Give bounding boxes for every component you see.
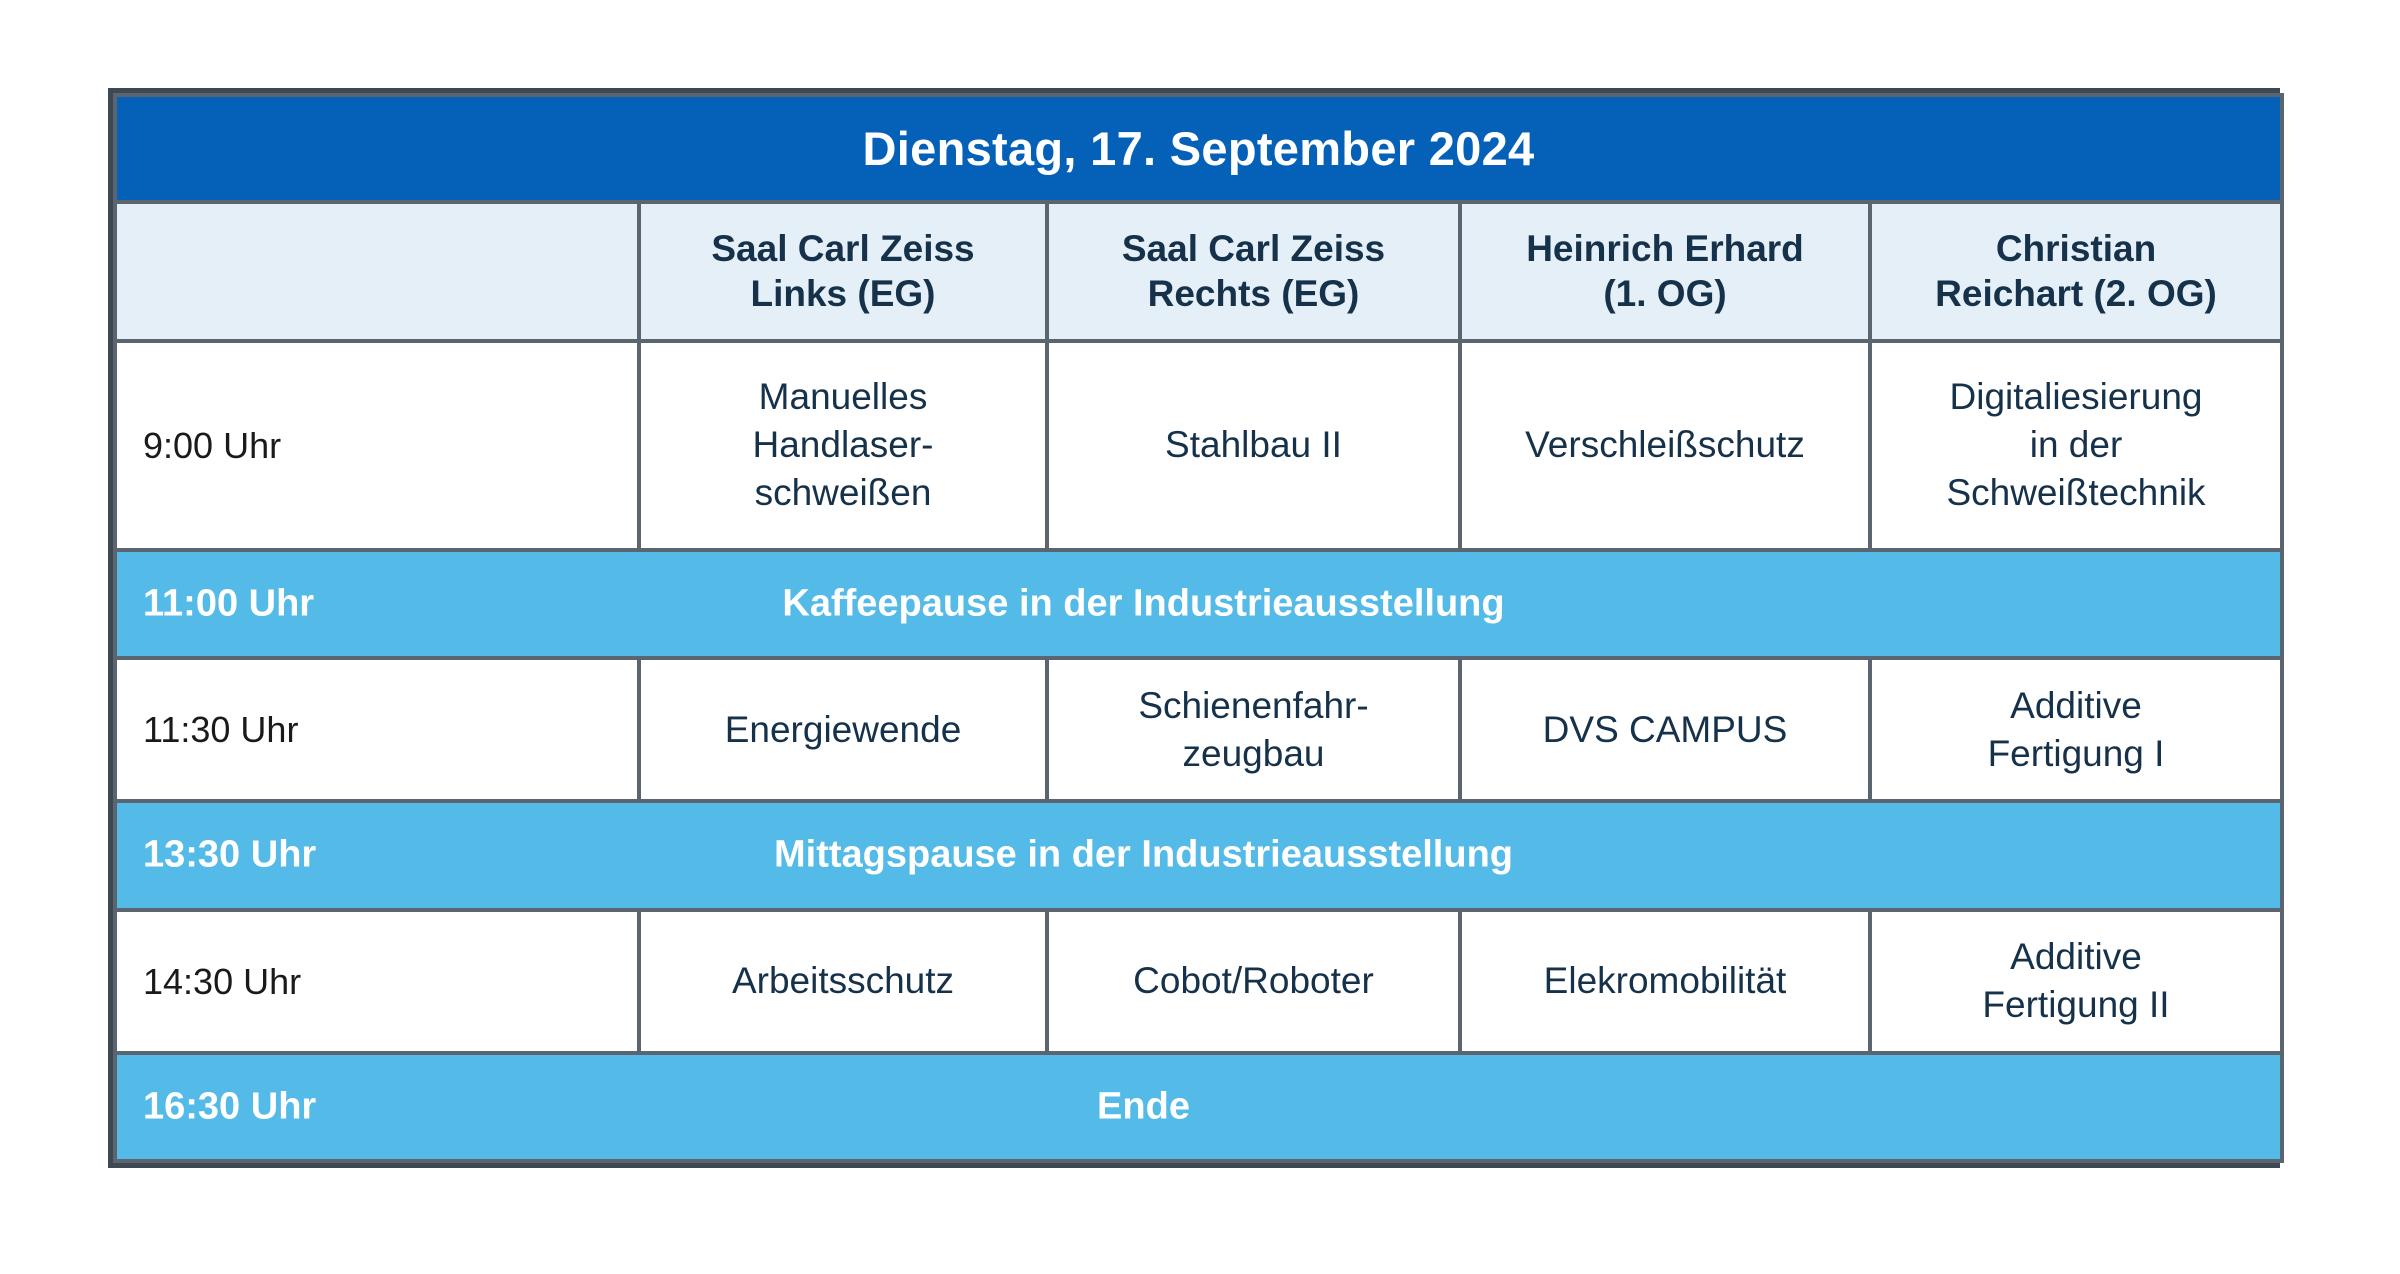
row-2-session-1-line-1: Energiewende	[725, 709, 962, 750]
header-room-1-line-1: Saal Carl Zeiss	[711, 228, 974, 269]
row-0-session-4-line-2: in der	[2030, 424, 2123, 465]
row-0-session-cell-1[interactable]: Manuelles Handlaser- schweißen	[639, 341, 1047, 550]
schedule-title-row: Dienstag, 17. September 2024	[115, 95, 2282, 202]
break-row-end: 16:30 Uhr Ende	[115, 1053, 2282, 1161]
header-room-4-label: Christian Reichart (2. OG)	[1872, 227, 2280, 316]
row-0-session-1-line-2: Handlaser-	[753, 424, 934, 465]
header-room-1-label: Saal Carl Zeiss Links (EG)	[641, 227, 1045, 316]
header-room-4-line-2: Reichart (2. OG)	[1935, 273, 2217, 314]
header-room-3-line-2: (1. OG)	[1603, 273, 1726, 314]
row-0-session-cell-2[interactable]: Stahlbau II	[1047, 341, 1460, 550]
row-2-time: 11:30 Uhr	[117, 707, 637, 752]
break-cell-end: 16:30 Uhr Ende	[115, 1053, 2282, 1161]
column-header-row: Saal Carl Zeiss Links (EG) Saal Carl Zei…	[115, 202, 2282, 341]
break-lunch-label: Mittagspause in der Industrieausstellung	[117, 834, 2280, 877]
break-inner-end: 16:30 Uhr Ende	[117, 1060, 2280, 1153]
row-4-session-3-line-1: Elekromobilität	[1544, 960, 1787, 1001]
row-2-session-3-line-1: DVS CAMPUS	[1543, 709, 1788, 750]
header-room-3-line-1: Heinrich Erhard	[1526, 228, 1804, 269]
row-0-time-cell: 9:00 Uhr	[115, 341, 639, 550]
row-0-session-2-line-1: Stahlbau II	[1165, 424, 1342, 465]
row-0-time: 9:00 Uhr	[117, 423, 637, 468]
row-0-session-cell-3[interactable]: Verschleißschutz	[1460, 341, 1870, 550]
row-2-session-1: Energiewende	[641, 700, 1045, 760]
header-cell-time	[115, 202, 639, 341]
row-2-time-cell: 11:30 Uhr	[115, 658, 639, 801]
header-room-2-label: Saal Carl Zeiss Rechts (EG)	[1049, 227, 1458, 316]
schedule-table: Dienstag, 17. September 2024 Saal Carl Z…	[113, 93, 2284, 1163]
break-inner-lunch: 13:30 Uhr Mittagspause in der Industriea…	[117, 809, 2280, 902]
row-2-session-2-line-1: Schienenfahr-	[1138, 685, 1368, 726]
row-4-session-4: Additive Fertigung II	[1872, 927, 2280, 1035]
row-2-session-2-line-2: zeugbau	[1183, 733, 1325, 774]
row-4-session-4-line-1: Additive	[2010, 936, 2142, 977]
row-0-session-2: Stahlbau II	[1049, 415, 1458, 475]
row-4-session-cell-4[interactable]: Additive Fertigung II	[1870, 910, 2282, 1053]
header-cell-room-4: Christian Reichart (2. OG)	[1870, 202, 2282, 341]
row-2-session-cell-3[interactable]: DVS CAMPUS	[1460, 658, 1870, 801]
row-4-session-cell-2[interactable]: Cobot/Roboter	[1047, 910, 1460, 1053]
row-4-session-cell-3[interactable]: Elekromobilität	[1460, 910, 1870, 1053]
row-0-session-4-line-3: Schweißtechnik	[1946, 472, 2205, 513]
row-2-session-cell-2[interactable]: Schienenfahr- zeugbau	[1047, 658, 1460, 801]
header-room-4-line-1: Christian	[1996, 228, 2156, 269]
row-4-session-2: Cobot/Roboter	[1049, 951, 1458, 1011]
header-cell-room-2: Saal Carl Zeiss Rechts (EG)	[1047, 202, 1460, 341]
schedule-title-cell: Dienstag, 17. September 2024	[115, 95, 2282, 202]
row-2-session-4-line-2: Fertigung I	[1988, 733, 2165, 774]
row-4-session-1: Arbeitsschutz	[641, 951, 1045, 1011]
row-4-session-4-line-2: Fertigung II	[1982, 984, 2169, 1025]
row-0-session-3: Verschleißschutz	[1462, 415, 1868, 475]
break-end-label: Ende	[117, 1085, 2280, 1128]
header-room-2-line-1: Saal Carl Zeiss	[1122, 228, 1385, 269]
row-2-session-4-line-1: Additive	[2010, 685, 2142, 726]
table-row: 14:30 Uhr Arbeitsschutz Cobot/Roboter El…	[115, 910, 2282, 1053]
header-cell-room-1: Saal Carl Zeiss Links (EG)	[639, 202, 1047, 341]
row-0-session-1-line-3: schweißen	[755, 472, 932, 513]
break-cell-coffee: 11:00 Uhr Kaffeepause in der Industrieau…	[115, 550, 2282, 658]
row-4-session-2-line-1: Cobot/Roboter	[1133, 960, 1374, 1001]
row-0-session-1: Manuelles Handlaser- schweißen	[641, 367, 1045, 523]
row-4-session-3: Elekromobilität	[1462, 951, 1868, 1011]
row-4-time-cell: 14:30 Uhr	[115, 910, 639, 1053]
row-0-session-cell-4[interactable]: Digitaliesierung in der Schweißtechnik	[1870, 341, 2282, 550]
row-2-session-3: DVS CAMPUS	[1462, 700, 1868, 760]
row-4-session-cell-1[interactable]: Arbeitsschutz	[639, 910, 1047, 1053]
header-room-1-line-2: Links (EG)	[750, 273, 935, 314]
row-4-time: 14:30 Uhr	[117, 959, 637, 1004]
row-0-session-4-line-1: Digitaliesierung	[1950, 376, 2203, 417]
break-coffee-label: Kaffeepause in der Industrieausstellung	[117, 582, 2280, 625]
row-2-session-2: Schienenfahr- zeugbau	[1049, 676, 1458, 784]
header-room-2-line-2: Rechts (EG)	[1148, 273, 1360, 314]
break-inner-coffee: 11:00 Uhr Kaffeepause in der Industrieau…	[117, 557, 2280, 650]
table-row: 11:30 Uhr Energiewende Schienenfahr- zeu…	[115, 658, 2282, 801]
row-0-session-3-line-1: Verschleißschutz	[1525, 424, 1805, 465]
header-cell-room-3: Heinrich Erhard (1. OG)	[1460, 202, 1870, 341]
row-0-session-4: Digitaliesierung in der Schweißtechnik	[1872, 367, 2280, 523]
schedule-table-container: Dienstag, 17. September 2024 Saal Carl Z…	[108, 88, 2280, 1168]
break-row-lunch: 13:30 Uhr Mittagspause in der Industriea…	[115, 801, 2282, 909]
row-2-session-4: Additive Fertigung I	[1872, 676, 2280, 784]
break-row-coffee: 11:00 Uhr Kaffeepause in der Industrieau…	[115, 550, 2282, 658]
table-row: 9:00 Uhr Manuelles Handlaser- schweißen …	[115, 341, 2282, 550]
row-2-session-cell-1[interactable]: Energiewende	[639, 658, 1047, 801]
header-room-3-label: Heinrich Erhard (1. OG)	[1462, 227, 1868, 316]
row-2-session-cell-4[interactable]: Additive Fertigung I	[1870, 658, 2282, 801]
break-cell-lunch: 13:30 Uhr Mittagspause in der Industriea…	[115, 801, 2282, 909]
row-0-session-1-line-1: Manuelles	[759, 376, 928, 417]
row-4-session-1-line-1: Arbeitsschutz	[732, 960, 954, 1001]
page-title: Dienstag, 17. September 2024	[117, 123, 2280, 175]
